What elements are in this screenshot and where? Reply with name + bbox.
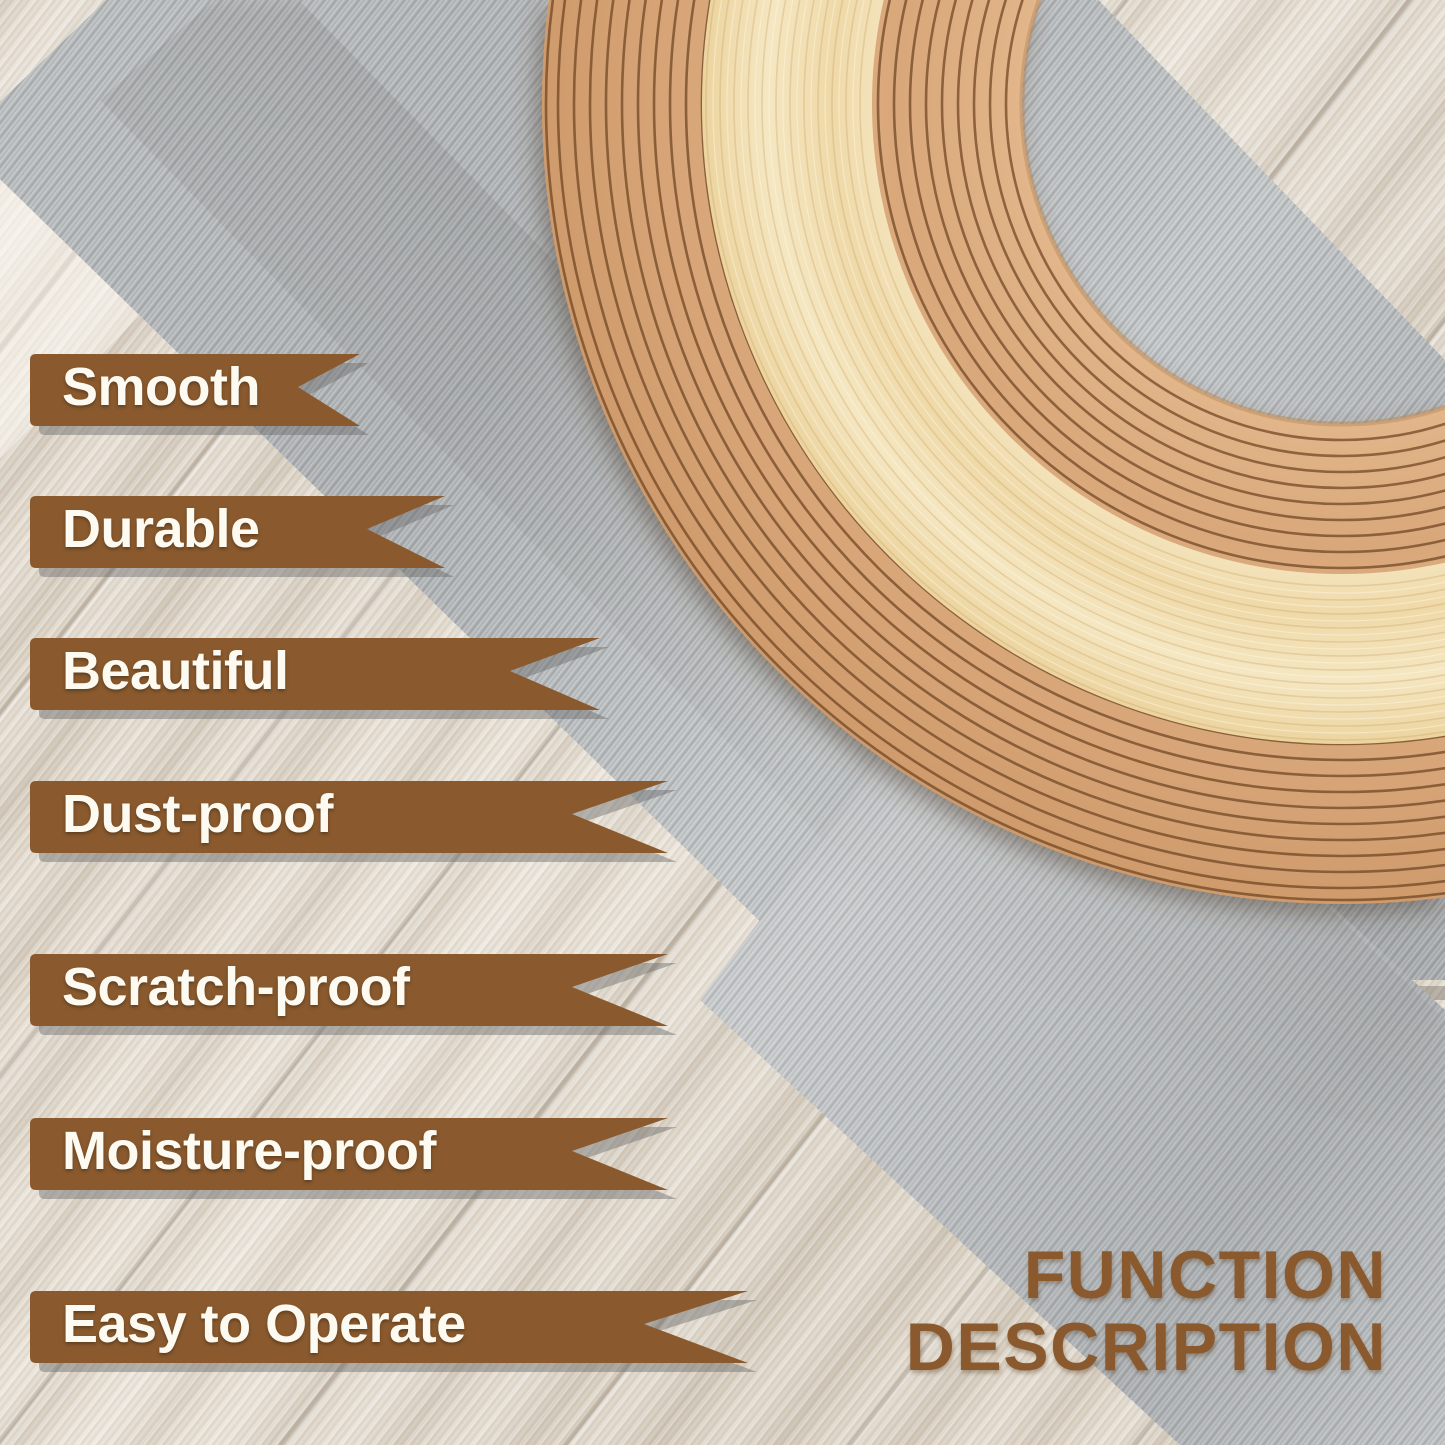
feature-banner: Beautiful — [30, 632, 614, 710]
feature-banner: Moisture-proof — [30, 1112, 682, 1190]
feature-banner: Durable — [30, 490, 459, 568]
feature-banner-label: Moisture-proof — [62, 1112, 436, 1190]
feature-banner-label: Smooth — [62, 348, 260, 426]
heading-line-1: FUNCTION — [906, 1239, 1387, 1311]
feature-banner-label: Easy to Operate — [62, 1285, 466, 1363]
feature-banner: Dust-proof — [30, 775, 682, 853]
feature-banner-label: Durable — [62, 490, 260, 568]
feature-banner: Easy to Operate — [30, 1285, 762, 1363]
product-feature-graphic: Smooth Durable Beautiful Dust-proof Scra… — [0, 0, 1445, 1445]
feature-banner-label: Dust-proof — [62, 775, 333, 853]
function-description-heading: FUNCTION DESCRIPTION — [906, 1239, 1387, 1383]
feature-banner-label: Beautiful — [62, 632, 289, 710]
heading-line-2: DESCRIPTION — [906, 1311, 1387, 1383]
feature-banner: Smooth — [30, 348, 374, 426]
feature-banner: Scratch-proof — [30, 948, 682, 1026]
feature-banner-label: Scratch-proof — [62, 948, 410, 1026]
